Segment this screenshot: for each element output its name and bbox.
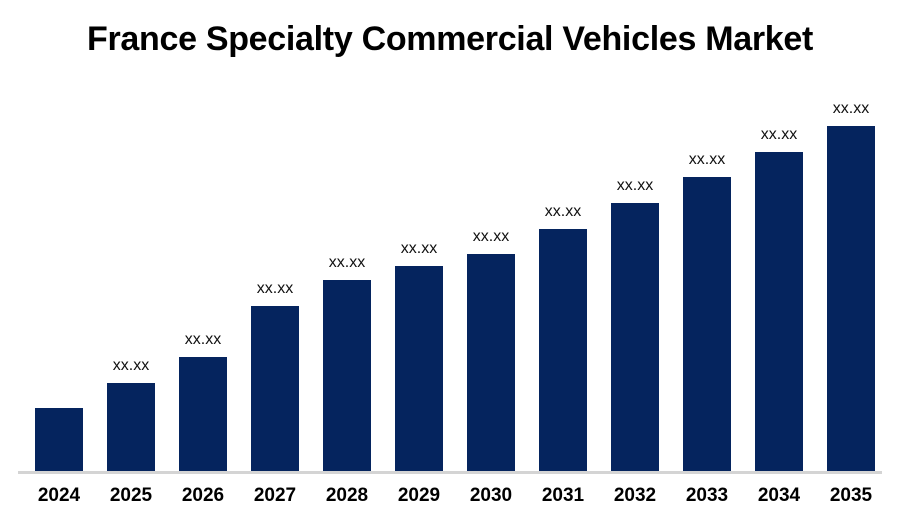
bar-value-label-2029: xx.xx	[381, 240, 457, 258]
bar-value-label-2025: xx.xx	[93, 357, 169, 375]
bar-group[interactable]: xx.xx2034	[755, 0, 803, 525]
x-axis-label-2027: 2027	[237, 485, 313, 507]
x-axis-label-2030: 2030	[453, 485, 529, 507]
bar-2029[interactable]	[395, 266, 443, 472]
bar-2034[interactable]	[755, 152, 803, 472]
bar-2028[interactable]	[323, 280, 371, 472]
x-axis-label-2028: 2028	[309, 485, 385, 507]
bar-group[interactable]: xx.xx2031	[539, 0, 587, 525]
bar-value-label-2028: xx.xx	[309, 254, 385, 272]
bar-2027[interactable]	[251, 306, 299, 472]
bar-group[interactable]: xx.xx2035	[827, 0, 875, 525]
bar-2033[interactable]	[683, 177, 731, 472]
bar-2026[interactable]	[179, 357, 227, 472]
bar-value-label-2034: xx.xx	[741, 126, 817, 144]
bar-2030[interactable]	[467, 254, 515, 472]
chart-container: France Specialty Commercial Vehicles Mar…	[0, 0, 900, 525]
bar-2024[interactable]	[35, 408, 83, 472]
x-axis-label-2025: 2025	[93, 485, 169, 507]
bar-2031[interactable]	[539, 229, 587, 472]
bar-2032[interactable]	[611, 203, 659, 472]
bar-2035[interactable]	[827, 126, 875, 472]
x-axis-label-2035: 2035	[813, 485, 889, 507]
bar-group[interactable]: 2024	[35, 0, 83, 525]
bar-value-label-2033: xx.xx	[669, 151, 745, 169]
x-axis-line	[18, 471, 882, 474]
x-axis-label-2034: 2034	[741, 485, 817, 507]
bar-2025[interactable]	[107, 383, 155, 472]
bar-value-label-2027: xx.xx	[237, 280, 313, 298]
bar-group[interactable]: xx.xx2027	[251, 0, 299, 525]
bar-group[interactable]: xx.xx2032	[611, 0, 659, 525]
bar-value-label-2026: xx.xx	[165, 331, 241, 349]
bar-group[interactable]: xx.xx2030	[467, 0, 515, 525]
plot-area: 2024xx.xx2025xx.xx2026xx.xx2027xx.xx2028…	[0, 0, 900, 525]
bar-value-label-2031: xx.xx	[525, 203, 601, 221]
bar-group[interactable]: xx.xx2029	[395, 0, 443, 525]
bar-value-label-2032: xx.xx	[597, 177, 673, 195]
x-axis-label-2031: 2031	[525, 485, 601, 507]
bar-value-label-2035: xx.xx	[813, 100, 889, 118]
x-axis-label-2029: 2029	[381, 485, 457, 507]
bar-group[interactable]: xx.xx2026	[179, 0, 227, 525]
x-axis-label-2026: 2026	[165, 485, 241, 507]
bar-value-label-2030: xx.xx	[453, 228, 529, 246]
x-axis-label-2024: 2024	[21, 485, 97, 507]
x-axis-label-2032: 2032	[597, 485, 673, 507]
bar-group[interactable]: xx.xx2028	[323, 0, 371, 525]
bar-group[interactable]: xx.xx2025	[107, 0, 155, 525]
x-axis-label-2033: 2033	[669, 485, 745, 507]
bar-group[interactable]: xx.xx2033	[683, 0, 731, 525]
